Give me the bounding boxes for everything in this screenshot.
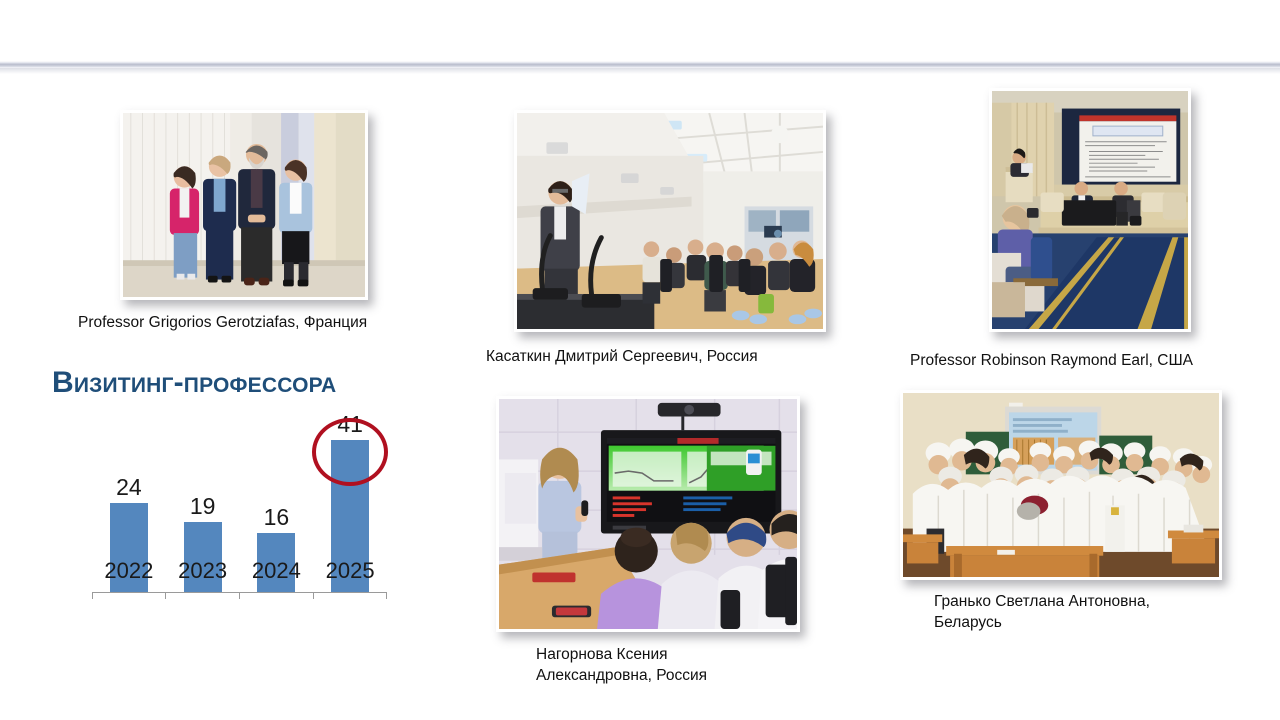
photo-conference-image: [992, 91, 1188, 329]
bar-value-2024: 16: [264, 506, 290, 529]
photo-lecture-hall: [514, 110, 826, 332]
axis-tick-3: [313, 592, 314, 599]
header-divider: [0, 61, 1280, 68]
photo-delegation-image: [123, 113, 365, 297]
bar-value-2023: 19: [190, 495, 216, 518]
category-label-2022: 2022: [92, 558, 166, 584]
category-label-2023: 2023: [166, 558, 240, 584]
header-divider-shadow: [0, 68, 1280, 74]
photo-group-lab-coats-image: [903, 393, 1219, 577]
chart-category-labels: 2022 2023 2024 2025: [92, 558, 387, 584]
axis-tick-2: [239, 592, 240, 599]
photo-seminar: [496, 396, 800, 632]
caption-photo-group-lab-coats: Гранько Светлана Антоновна, Беларусь: [934, 592, 1234, 634]
caption-photo-conference: Professor Robinson Raymond Earl, США: [910, 351, 1280, 372]
category-label-2025: 2025: [313, 558, 387, 584]
bar-value-2022: 24: [116, 476, 142, 499]
photo-group-lab-coats: [900, 390, 1222, 580]
photo-seminar-image: [499, 399, 797, 629]
category-label-2024: 2024: [240, 558, 314, 584]
photo-delegation: [120, 110, 368, 300]
chart-title: Визитинг-профессора: [52, 366, 336, 400]
caption-photo-lecture-hall: Касаткин Дмитрий Сергеевич, Россия: [486, 347, 886, 368]
caption-photo-delegation: Professor Grigorios Gerotziafas, Франция: [78, 313, 458, 334]
photo-lecture-hall-image: [517, 113, 823, 329]
axis-tick-0: [92, 592, 93, 599]
visiting-professors-chart: Визитинг-профессора 24 19 16: [42, 366, 442, 646]
axis-tick-4: [386, 592, 387, 599]
highlight-ellipse-2025: [312, 418, 388, 486]
caption-photo-seminar: Нагорнова Ксения Александровна, Россия: [536, 645, 836, 687]
photo-conference: [989, 88, 1191, 332]
presentation-slide: Professor Grigorios Gerotziafas, Франция: [0, 0, 1280, 720]
axis-tick-1: [165, 592, 166, 599]
